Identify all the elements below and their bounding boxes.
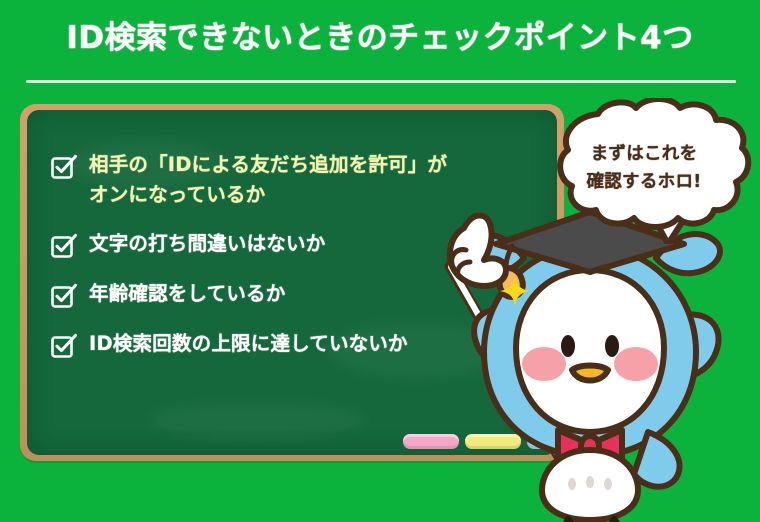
checklist-item-label: 文字の打ち間違いはないか	[89, 229, 325, 259]
speech-bubble-line-2: 確認するホロ!	[536, 168, 752, 196]
poster-canvas: ID検索できないときのチェックポイント4つ 相手の「IDによる友だち追加を許可」…	[0, 0, 760, 522]
checkbox-checked-icon	[50, 232, 78, 260]
owl-teacher-character	[420, 206, 760, 522]
speech-bubble-text: まずはこれを 確認するホロ!	[536, 140, 752, 196]
checklist-item-label: ID検索回数の上限に達していないか	[89, 329, 408, 359]
page-title: ID検索できないときのチェックポイント4つ	[0, 18, 760, 58]
speech-bubble-line-1: まずはこれを	[536, 140, 752, 168]
checklist-item-label: 年齢確認をしているか	[89, 279, 285, 309]
speech-bubble: まずはこれを 確認するホロ!	[536, 98, 752, 244]
sparkle-icon	[500, 276, 530, 306]
chalk-smudge	[147, 400, 367, 440]
checklist-item-label: 相手の「IDによる友だち追加を許可」が オンになっているか	[89, 150, 447, 210]
checkbox-checked-icon	[50, 332, 78, 360]
checkbox-checked-icon	[50, 153, 78, 181]
checklist-item: 相手の「IDによる友だち追加を許可」が オンになっているか	[50, 150, 520, 210]
title-divider	[26, 80, 736, 83]
checkbox-checked-icon	[50, 282, 78, 310]
